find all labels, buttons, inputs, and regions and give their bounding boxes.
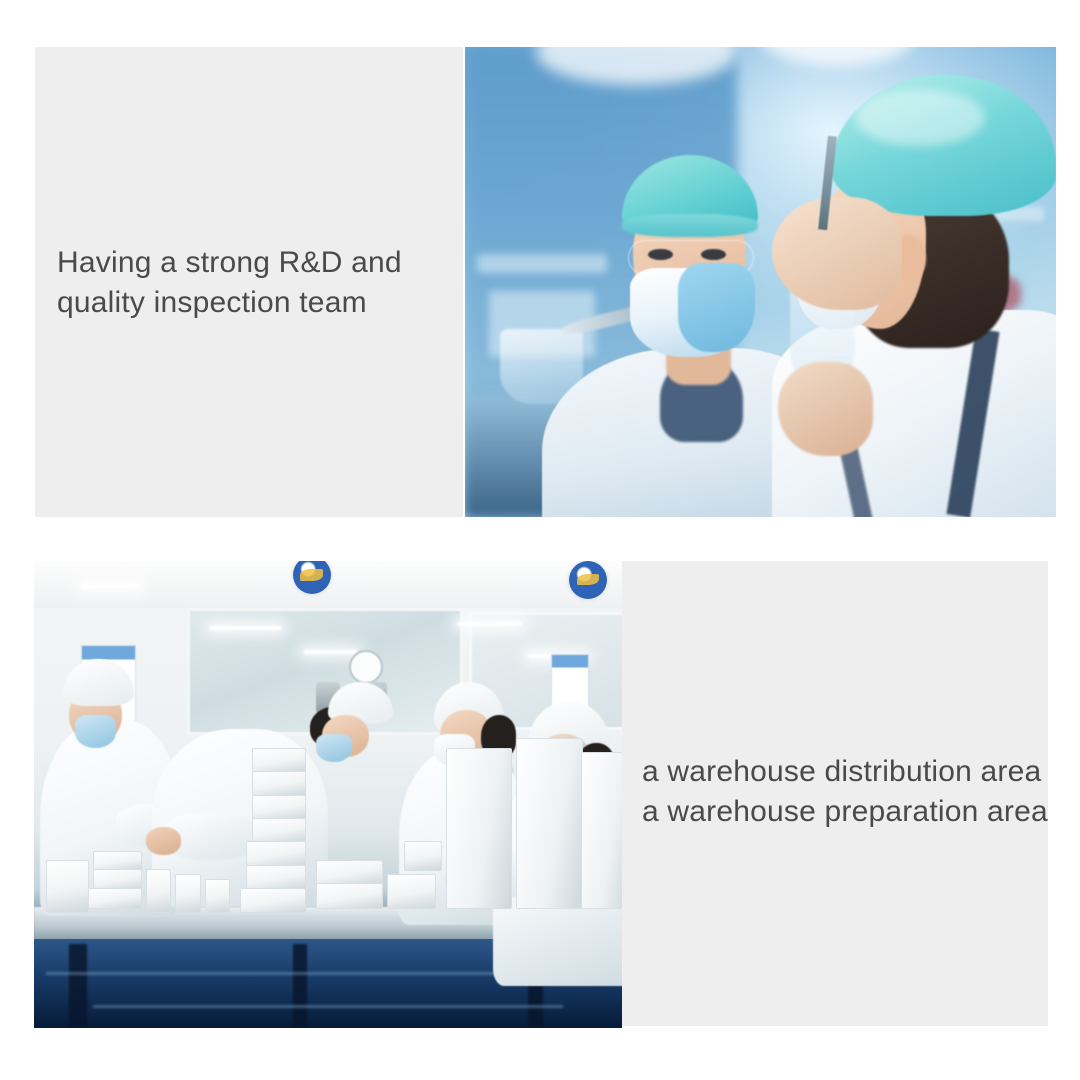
worker-hand xyxy=(146,827,181,855)
carton-box xyxy=(146,869,172,913)
box-stack xyxy=(516,738,583,908)
worker-mask xyxy=(75,715,116,748)
carton-box xyxy=(87,888,142,909)
table-crossbar xyxy=(93,1005,563,1008)
warehouse-caption-line-2: a warehouse preparation area xyxy=(642,795,1048,828)
carton-box xyxy=(316,860,383,885)
carton-box xyxy=(93,869,142,890)
carton-box xyxy=(246,841,307,866)
carton-box xyxy=(252,795,307,820)
technician-right-hand-lower xyxy=(778,362,873,456)
carton-box xyxy=(46,860,89,913)
company-logo-icon xyxy=(569,561,607,599)
carton-box xyxy=(252,818,307,843)
carton-box xyxy=(316,883,383,908)
product-feature-collage: Having a strong R&D andquality inspectio… xyxy=(0,0,1080,1080)
carton-box xyxy=(93,851,142,872)
rd-caption-line-1: Having a strong R&D and xyxy=(57,246,402,279)
carton-box xyxy=(252,748,307,773)
carton-box xyxy=(404,841,441,871)
technician-right-hairnet-highlight xyxy=(855,89,985,145)
technician-left-hairnet-band xyxy=(622,214,758,238)
lab-shelf xyxy=(477,254,607,273)
worker-mask xyxy=(316,734,351,762)
rd-quality-photo xyxy=(465,47,1056,517)
carton-box xyxy=(240,888,307,913)
carton-box xyxy=(246,865,307,890)
tube-light-icon xyxy=(304,650,357,654)
technician-left-mask-blue xyxy=(678,263,755,352)
box-stack xyxy=(446,748,513,909)
carton-box xyxy=(387,874,436,909)
rd-caption-line-2: quality inspection team xyxy=(57,286,367,319)
table-leg xyxy=(293,944,308,1028)
carton-box xyxy=(175,874,201,913)
tube-light-icon xyxy=(210,626,281,630)
warehouse-photo xyxy=(34,561,622,1028)
rd-caption-text: Having a strong R&D andquality inspectio… xyxy=(57,243,402,323)
warehouse-caption-line-1: a warehouse distribution area xyxy=(642,755,1041,788)
table-leg xyxy=(69,944,87,1028)
technician-right-hand xyxy=(772,197,902,310)
carton-box xyxy=(205,879,231,914)
tube-light-icon xyxy=(81,584,140,588)
warehouse-caption-text: a warehouse distribution areaa warehouse… xyxy=(642,752,1048,832)
box-stack xyxy=(581,752,622,908)
wall-clock-icon xyxy=(349,650,383,684)
carton-box xyxy=(252,771,307,796)
tube-light-icon xyxy=(457,622,522,626)
